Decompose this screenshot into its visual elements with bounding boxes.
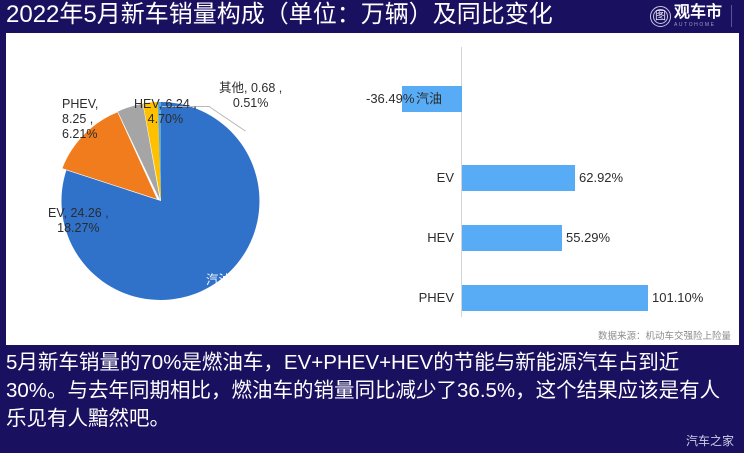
bar-value-gas: -36.49%	[366, 86, 400, 112]
source-note: 数据来源：机动车交强险上险量	[598, 328, 731, 342]
bar-fill-ev	[462, 165, 575, 191]
pie-label-phev-line3: 6.21%	[62, 127, 98, 142]
pie-label-ev-line2: 18.27%	[48, 221, 109, 236]
bar-category-ev: EV	[366, 165, 454, 191]
pie-label-other-line2: 0.51%	[219, 96, 282, 111]
pie-label-ev: EV, 24.26 , 18.27%	[48, 206, 109, 236]
pie-label-phev-line1: PHEV,	[62, 97, 98, 112]
pie-label-hev: HEV, 6.24 , 4.70%	[134, 97, 197, 127]
commentary-text: 5月新车销量的70%是燃油车，EV+PHEV+HEV的节能与新能源汽车占到近30…	[6, 349, 739, 433]
logo-name: 观车市	[674, 5, 722, 21]
bar-row: PHEV 101.10%	[366, 285, 739, 311]
pie-label-gas-line1: 汽油,	[206, 273, 248, 288]
pie-label-phev-line2: 8.25 ,	[62, 112, 98, 127]
logo-circle-icon: 图	[650, 6, 671, 27]
pie-label-phev: PHEV, 8.25 , 6.21%	[62, 97, 98, 142]
brand-logo: 图 观车市 AUTOHOME	[650, 3, 732, 29]
pie-label-gas: 汽油, 93.36 , 70.30%	[206, 273, 248, 318]
infographic-page: 2022年5月新车销量构成（单位：万辆）及同比变化 图 观车市 AUTOHOME	[0, 0, 744, 453]
bar-category-gas: 汽油	[416, 86, 442, 112]
bar-value-ev: 62.92%	[579, 165, 623, 191]
bar-row: EV 62.92%	[366, 165, 739, 191]
bar-chart: -36.49% 汽油 EV 62.92% HEV 55.29% PHEV 101…	[366, 33, 739, 345]
bar-category-hev: HEV	[366, 225, 454, 251]
pie-label-other-line1: 其他, 0.68 ,	[219, 81, 282, 96]
logo-glyph: 图	[655, 11, 666, 22]
pie-label-hev-line2: 4.70%	[134, 112, 197, 127]
bar-value-hev: 55.29%	[566, 225, 610, 251]
bar-row: HEV 55.29%	[366, 225, 739, 251]
pie-label-other: 其他, 0.68 , 0.51%	[219, 81, 282, 111]
bar-fill-phev	[462, 285, 648, 311]
bar-row: -36.49% 汽油	[366, 86, 739, 112]
pie-label-ev-line1: EV, 24.26 ,	[48, 206, 109, 221]
logo-divider	[731, 5, 732, 27]
bar-value-phev: 101.10%	[652, 285, 703, 311]
pie-label-gas-line3: 70.30%	[206, 303, 248, 318]
bar-fill-hev	[462, 225, 562, 251]
pie-chart: PHEV, 8.25 , 6.21% HEV, 6.24 , 4.70% 其他,…	[6, 33, 366, 345]
bar-category-phev: PHEV	[366, 285, 454, 311]
chart-panel: PHEV, 8.25 , 6.21% HEV, 6.24 , 4.70% 其他,…	[6, 33, 739, 345]
pie-label-gas-line2: 93.36 ,	[206, 288, 248, 303]
logo-text: 观车市 AUTOHOME	[674, 5, 722, 28]
header-bar: 2022年5月新车销量构成（单位：万辆）及同比变化 图 观车市 AUTOHOME	[0, 0, 744, 31]
pie-label-hev-line1: HEV, 6.24 ,	[134, 97, 197, 112]
watermark: 汽车之家	[686, 432, 734, 449]
page-title: 2022年5月新车销量构成（单位：万辆）及同比变化	[6, 0, 553, 30]
logo-subtitle: AUTOHOME	[674, 23, 716, 28]
